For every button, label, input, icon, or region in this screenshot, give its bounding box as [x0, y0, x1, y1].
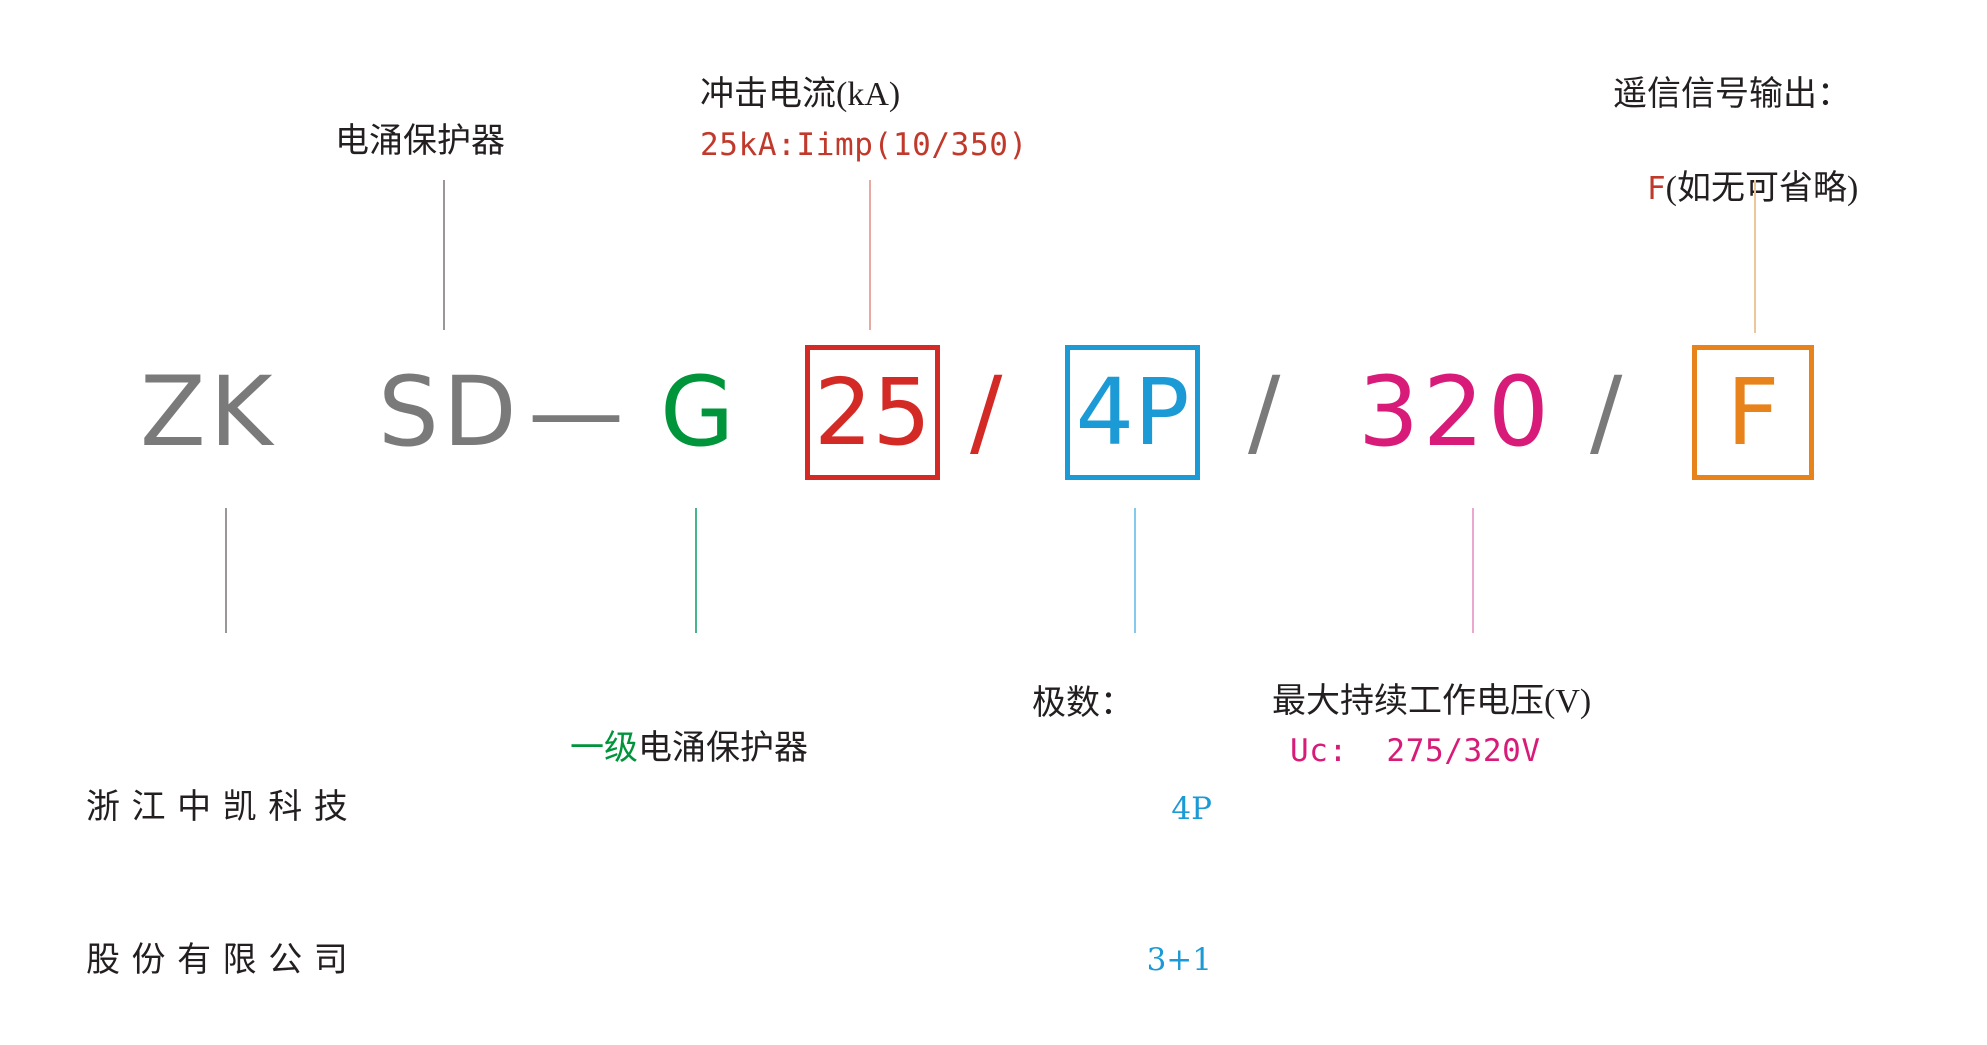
- annotation-spd-label: 电涌保护器: [335, 120, 505, 165]
- leader-line-remote-signal: [1754, 180, 1756, 333]
- annotation-company-line2: 股份有限公司: [86, 935, 359, 986]
- model-naming-diagram: 电涌保护器 冲击电流(kA) 25kA:Iimp(10/350) 遥信信号输出：…: [0, 0, 1987, 1045]
- annotation-impulse-current-title: 冲击电流(kA): [700, 73, 900, 118]
- model-separator-slash-1: /: [970, 364, 1006, 460]
- annotation-company: 浙江中凯科技 股份有限公司: [86, 680, 359, 1045]
- annotation-remote-signal-title: 遥信信号输出：: [1613, 73, 1851, 118]
- remote-signal-accent: F: [1647, 171, 1666, 207]
- model-segment-signal-boxed: F: [1692, 345, 1814, 480]
- remote-signal-rest: (如无可省略): [1666, 170, 1859, 207]
- annotation-remote-signal-value: F(如无可省略): [1613, 122, 1858, 257]
- annotation-voltage-title: 最大持续工作电压(V): [1272, 680, 1591, 725]
- model-segment-impulse-current-boxed: 25: [805, 345, 940, 480]
- annotation-voltage-value: Uc: 275/320V: [1290, 731, 1541, 772]
- annotation-grade-accent: 一级: [570, 730, 638, 767]
- model-segment-poles-boxed: 4P: [1065, 345, 1200, 480]
- pole-option: 4P: [1060, 784, 1212, 834]
- annotation-impulse-current-value: 25kA:Iimp(10/350): [700, 125, 1028, 166]
- annotation-poles-options: 4P 3+1 1+1 3P 2P 1P: [1060, 684, 1212, 1045]
- annotation-company-line1: 浙江中凯科技: [86, 782, 359, 833]
- model-separator-slash-3: /: [1590, 364, 1626, 460]
- model-string: ZK SD — G 25 / 4P / 320 / F: [0, 340, 1987, 490]
- model-segment-grade: G: [660, 364, 738, 460]
- annotation-grade-rest: 电涌保护器: [638, 730, 808, 767]
- leader-line-company: [225, 508, 227, 633]
- model-segment-dash: —: [528, 364, 628, 460]
- pole-option: 3+1: [1060, 935, 1212, 985]
- leader-line-impulse-current: [869, 180, 871, 330]
- model-segment-series: SD: [378, 364, 521, 460]
- model-separator-slash-2: /: [1248, 364, 1284, 460]
- leader-line-poles: [1134, 508, 1136, 633]
- annotation-grade: 一级电涌保护器: [536, 682, 808, 817]
- model-segment-voltage: 320: [1358, 364, 1553, 460]
- leader-line-grade: [695, 508, 697, 633]
- leader-line-spd-label: [443, 180, 445, 330]
- leader-line-voltage: [1472, 508, 1474, 633]
- model-segment-brand: ZK: [140, 364, 276, 460]
